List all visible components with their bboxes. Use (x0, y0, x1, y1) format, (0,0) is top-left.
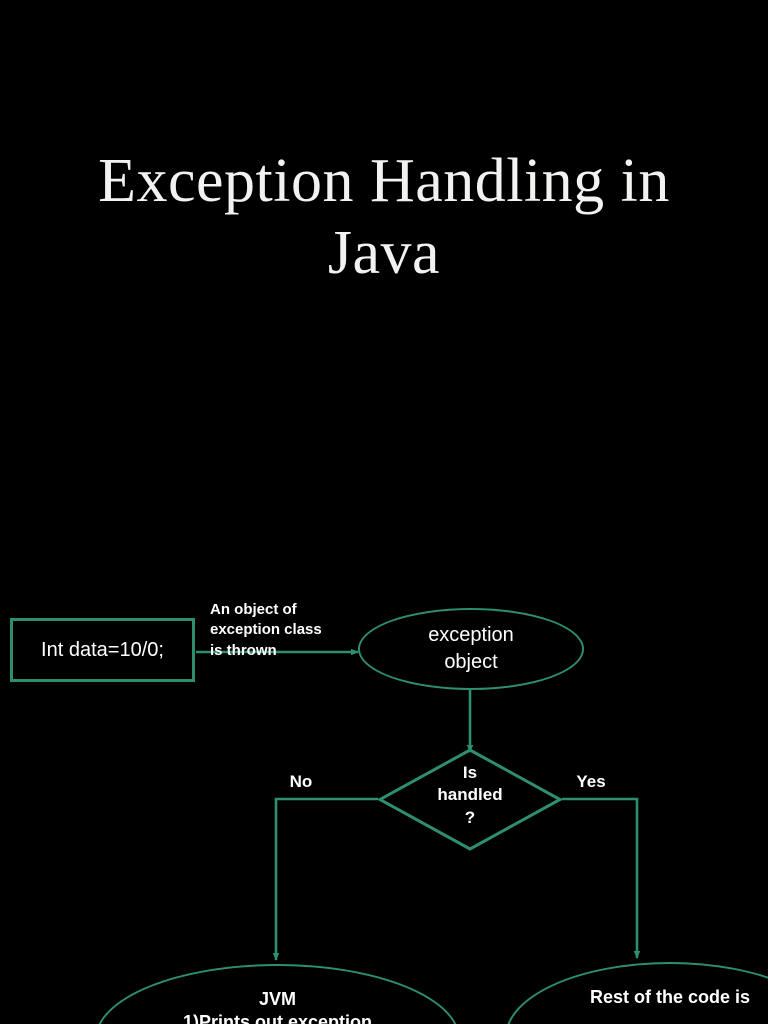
branch-label-no: No (268, 772, 334, 793)
process-box-label: Int data=10/0; (41, 638, 164, 662)
exception-object-label: exception object (428, 622, 514, 676)
exception-object-node: exception object (358, 608, 584, 690)
slide-title: Exception Handling in Java (60, 146, 708, 290)
connector-yes-branch (562, 799, 637, 958)
process-box-division: Int data=10/0; (10, 618, 195, 682)
throw-annotation-label: An object of exception class is thrown (210, 600, 360, 661)
outcome-rest-of-code-label: Rest of the code is (507, 986, 768, 1009)
outcome-node-rest-of-code: Rest of the code is (505, 962, 768, 1024)
branch-label-yes: Yes (558, 772, 624, 793)
decision-node-is-handled (378, 748, 562, 851)
outcome-jvm-label: JVM 1)Prints out exception (97, 988, 458, 1024)
outcome-node-jvm: JVM 1)Prints out exception (95, 964, 460, 1024)
connector-no-branch (276, 799, 378, 960)
presentation-slide: Exception Handling in Java Int data=10/0… (0, 0, 768, 1024)
